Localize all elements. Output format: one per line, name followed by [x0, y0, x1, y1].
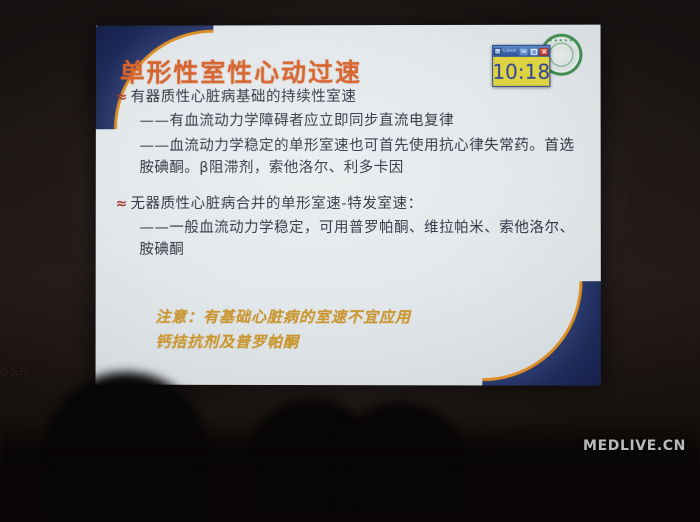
clock-window-title: Clock	[502, 49, 518, 54]
bullet-heading: 无器质性心脏病合并的单形室速-特发室速：	[131, 192, 584, 214]
bullet-item: ≈ 有器质性心脏病基础的持续性室速	[114, 86, 584, 109]
left-edge-poster-text: 办医药	[0, 368, 52, 398]
sub-item: ——血流动力学稳定的单形室速也可首先使用抗心律失常药。首选胺碘酮。β阻滞剂，索他…	[140, 134, 588, 179]
bullet-item: ≈ 无器质性心脏病合并的单形室速-特发室速：	[114, 192, 584, 214]
slide-warning-note: 注意：有基础心脏病的室速不宜应用 钙拮抗剂及普罗帕酮	[155, 305, 565, 356]
clock-face: 10:18	[493, 57, 549, 86]
projection-screen: 单形性室性心动过速 ≈ 有器质性心脏病基础的持续性室速 ——有血流动力学障碍者应…	[96, 25, 601, 386]
note-line-2: 钙拮抗剂及普罗帕酮	[155, 330, 565, 356]
clock-window-titlebar[interactable]: Clock	[493, 46, 549, 57]
sub-item: ——有血流动力学障碍者应立即同步直流电复律	[140, 110, 588, 133]
clock-time-display: 10:18	[492, 61, 550, 81]
slide-content: 单形性室性心动过速 ≈ 有器质性心脏病基础的持续性室速 ——有血流动力学障碍者应…	[96, 25, 601, 386]
clock-window[interactable]: Clock 10:18	[492, 45, 550, 87]
emblem-inner-ring	[549, 43, 573, 67]
maximize-button[interactable]	[529, 47, 538, 55]
auditorium-room: 办医药 单形性室性心动过速 ≈ 有器质性心脏病基础的持续性室速 ——有血流动力学…	[0, 0, 700, 465]
presentation-slide: 单形性室性心动过速 ≈ 有器质性心脏病基础的持续性室速 ——有血流动力学障碍者应…	[96, 25, 601, 386]
note-line-1: 注意：有基础心脏病的室速不宜应用	[155, 305, 565, 331]
clock-app-icon	[494, 48, 501, 55]
sub-item: ——一般血流动力学稳定，可用普罗帕酮、维拉帕米、索他洛尔、胺碘酮	[139, 216, 587, 261]
watermark: MEDLIVE.CN	[583, 438, 686, 454]
minimize-button[interactable]	[519, 47, 528, 55]
slide-body: ≈ 有器质性心脏病基础的持续性室速 ——有血流动力学障碍者应立即同步直流电复律 …	[114, 85, 584, 262]
wave-bullet-icon: ≈	[114, 193, 131, 215]
bullet-heading: 有器质性心脏病基础的持续性室速	[131, 86, 584, 109]
slide-title: 单形性室性心动过速	[120, 53, 362, 89]
close-button[interactable]	[539, 47, 548, 55]
body-spacer	[114, 179, 584, 191]
wave-bullet-icon: ≈	[114, 86, 131, 108]
